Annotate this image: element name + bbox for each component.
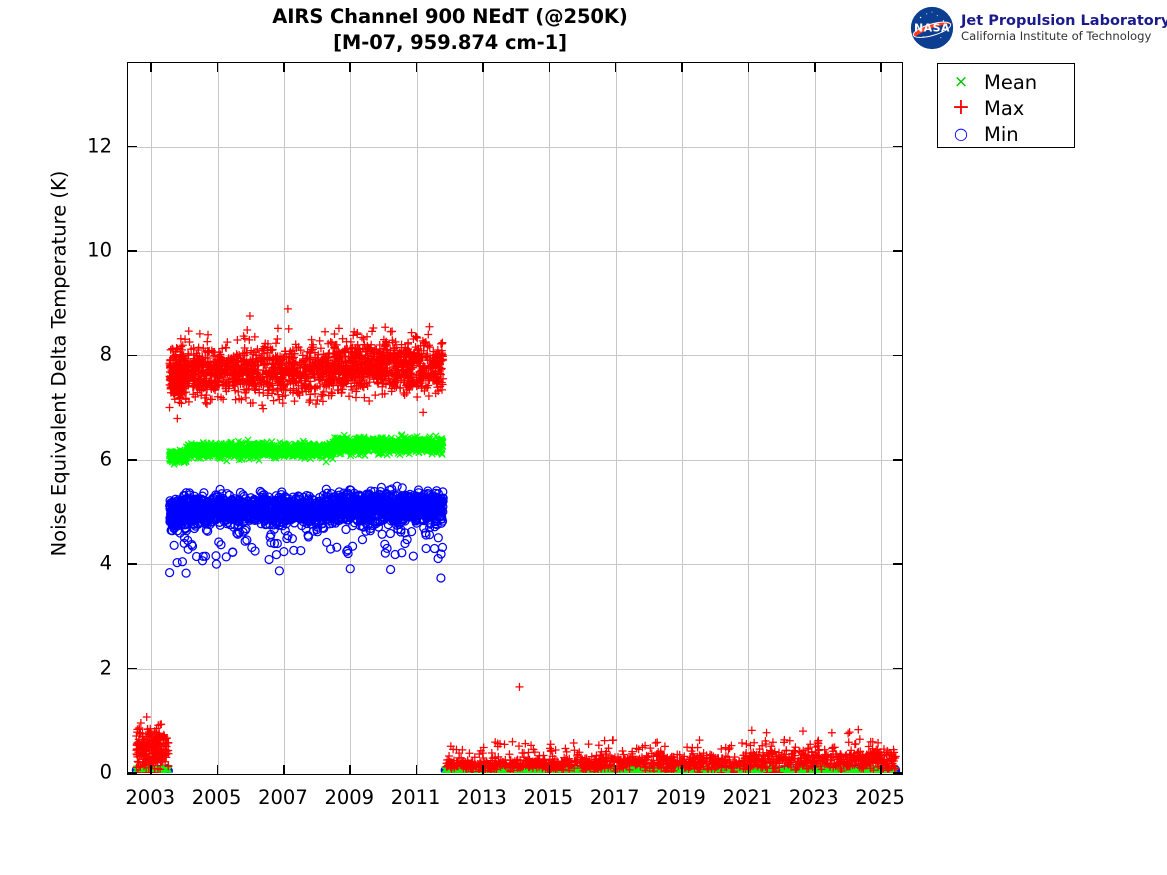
figure-root: AIRS Channel 900 NEdT (@250K) [M-07, 959… xyxy=(0,0,1167,875)
x-tick-label: 2023 xyxy=(789,786,839,809)
legend-label: Mean xyxy=(984,71,1037,94)
open-circle-marker-icon: ○ xyxy=(938,126,984,142)
x-tick-label: 2013 xyxy=(457,786,507,809)
x-tick-label: 2017 xyxy=(590,786,640,809)
legend-box: ×Mean+Max○Min xyxy=(937,63,1075,148)
x-tick-label: 2021 xyxy=(723,786,773,809)
cross-x-marker-icon: × xyxy=(938,74,984,91)
x-tick-label: 2025 xyxy=(855,786,905,809)
plus-marker-icon: + xyxy=(938,97,984,119)
x-tick-label: 2015 xyxy=(524,786,574,809)
legend-entry-mean: ×Mean xyxy=(938,69,1074,95)
x-tick-label: 2007 xyxy=(258,786,308,809)
x-tick-label: 2009 xyxy=(324,786,374,809)
legend-entry-min: ○Min xyxy=(938,121,1074,147)
legend-label: Max xyxy=(984,97,1024,120)
legend-entry-max: +Max xyxy=(938,95,1074,121)
x-tick-label: 2019 xyxy=(656,786,706,809)
x-tick-label: 2011 xyxy=(391,786,441,809)
x-tick-label: 2005 xyxy=(192,786,242,809)
legend-label: Min xyxy=(984,123,1019,146)
x-tick-label: 2003 xyxy=(125,786,175,809)
